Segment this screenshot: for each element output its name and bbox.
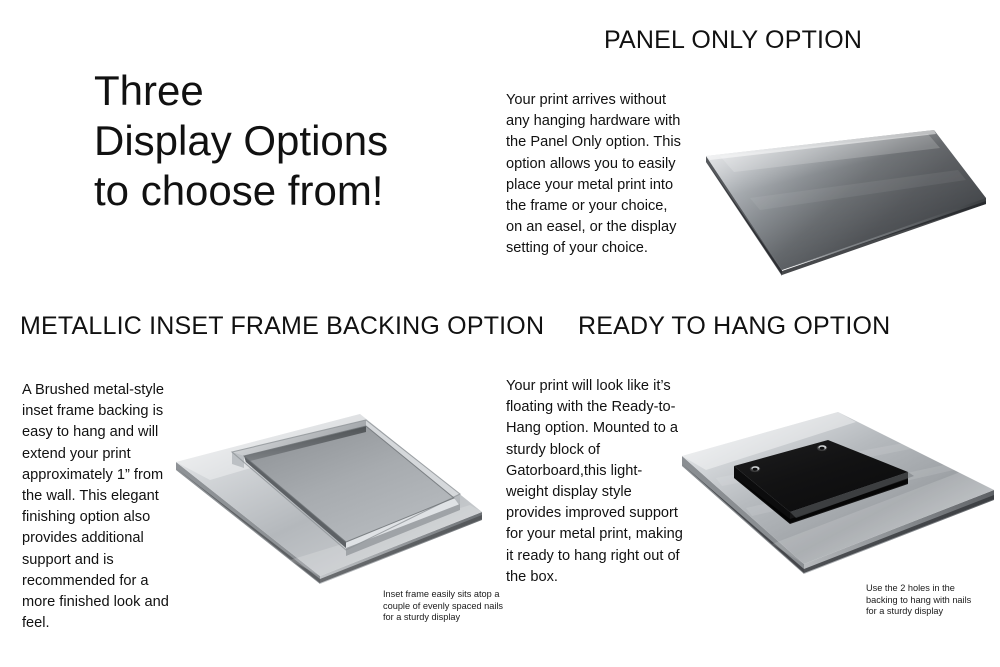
metal-print-panel-illustration (690, 128, 1000, 288)
section-body-panel-only: Your print arrives without any hanging h… (506, 90, 684, 260)
metal-print-with-gatorboard-illustration (676, 408, 1000, 586)
metal-print-with-inset-frame-illustration (170, 410, 490, 590)
section-body-inset-frame: A Brushed metal-style inset frame backin… (22, 380, 172, 634)
section-heading-inset-frame: METALLIC INSET FRAME BACKING OPTION (20, 311, 544, 341)
caption-ready-to-hang: Use the 2 holes in the backing to hang w… (866, 583, 996, 618)
section-heading-panel-only: PANEL ONLY OPTION (604, 25, 862, 55)
section-heading-ready-to-hang: READY TO HANG OPTION (578, 311, 890, 341)
caption-inset-frame: Inset frame easily sits atop a couple of… (383, 589, 533, 624)
section-body-ready-to-hang: Your print will look like it’s floating … (506, 376, 684, 588)
page-title: Three Display Options to choose from! (94, 66, 494, 216)
slide-canvas: Three Display Options to choose from! PA… (0, 0, 1000, 667)
